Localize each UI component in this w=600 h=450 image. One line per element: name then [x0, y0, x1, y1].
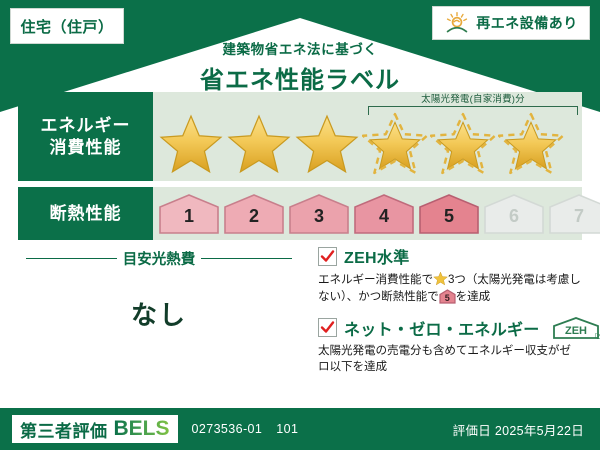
divider-left — [26, 258, 117, 259]
net-zero-energy-checkbox[interactable] — [318, 318, 337, 337]
title-block: 建築物省エネ法に基づく 省エネ性能ラベル — [0, 38, 600, 95]
estimated-utility-cost-section: 目安光熱費 なし — [18, 248, 300, 373]
sun-icon — [444, 11, 470, 35]
zeh-standard-row: ZEH水準 エネルギー消費性能で3つ（太陽光発電は考慮しない）、かつ断熱性能で5… — [318, 244, 582, 306]
zeh-standard-title: ZEH水準 — [344, 244, 410, 268]
energy-category-label: エネルギー 消費性能 — [18, 92, 153, 181]
insulation-level-value: 3 — [288, 206, 350, 227]
bels-wordmark: BELS — [114, 417, 170, 441]
insulation-level-value: 4 — [353, 206, 415, 227]
estimated-utility-cost-label: 目安光熱費 — [123, 248, 196, 269]
zeh-standard-description: エネルギー消費性能で3つ（太陽光発電は考慮しない）、かつ断熱性能で5を達成 — [318, 271, 582, 306]
insulation-level-7: 7 — [548, 193, 600, 235]
star-icon-filled — [158, 111, 224, 177]
building-type-label: 住宅（住戸） — [20, 16, 113, 37]
zeh-desc-part-c: を達成 — [456, 290, 490, 303]
bels-logo: 第三者評価 BELS — [12, 415, 178, 443]
insulation-level-3: 3 — [288, 193, 350, 235]
net-zero-energy-description: 太陽光発電の売電分も含めてエネルギー収支がゼロ以下を達成 — [318, 343, 582, 377]
insulation-level-value: 2 — [223, 206, 285, 227]
zeh-desc-part-a: エネルギー消費性能で — [318, 273, 433, 286]
insulation-level-2: 2 — [223, 193, 285, 235]
insulation-level-4: 4 — [353, 193, 415, 235]
estimated-utility-cost-value: なし — [18, 295, 300, 332]
star-icon-filled — [294, 111, 360, 177]
star-icon-filled — [226, 111, 292, 177]
label-content: エネルギー 消費性能 太陽光発電(自家消費)分 — [18, 92, 582, 432]
insulation-level-6: 6 — [483, 193, 545, 235]
check-icon — [320, 249, 335, 264]
insulation-level-value: 5 — [418, 206, 480, 227]
star-icon-solar — [362, 111, 428, 177]
certificate-number: 0273536-01 — [192, 422, 263, 436]
zeh-criteria-section: ZEH水準 エネルギー消費性能で3つ（太陽光発電は考慮しない）、かつ断熱性能で5… — [318, 244, 582, 386]
insulation-level-5: 5 — [418, 193, 480, 235]
energy-label-line1: エネルギー — [41, 115, 131, 136]
star-icon-solar — [498, 111, 564, 177]
footer-bar: 第三者評価 BELS 0273536-01 101 評価日 2025年5月22日 — [0, 408, 600, 450]
star-rating — [158, 110, 578, 178]
insulation-level-scale: 1 2 3 4 5 — [158, 191, 600, 236]
certificate-number-2: 101 — [276, 422, 298, 436]
net-zero-energy-header: ネット・ゼロ・エネルギー ZEH 「ZEH」 — [318, 316, 582, 340]
zeh-standard-checkbox[interactable] — [318, 247, 337, 266]
net-zero-energy-title: ネット・ゼロ・エネルギー — [344, 316, 540, 340]
energy-label-line2: 消費性能 — [50, 137, 122, 158]
third-party-label: 第三者評価 — [20, 417, 108, 442]
insulation-level-value: 6 — [483, 206, 545, 227]
star-icon-inline — [433, 271, 448, 286]
divider-right — [201, 258, 292, 259]
page-title: 省エネ性能ラベル — [0, 60, 600, 95]
energy-performance-section: エネルギー 消費性能 太陽光発電(自家消費)分 — [18, 92, 582, 181]
insulation-badge-inline: 5 — [439, 289, 456, 304]
insulation-category-label: 断熱性能 — [18, 187, 153, 240]
insulation-level-value: 1 — [158, 206, 220, 227]
star-icon-solar — [430, 111, 496, 177]
renewable-label: 再エネ設備あり — [476, 13, 578, 33]
renewable-equipment-badge: 再エネ設備あり — [432, 6, 590, 40]
zeh-logo-sublabel: 「ZEH」 — [591, 332, 600, 341]
check-icon — [320, 320, 335, 335]
evaluation-date: 評価日 2025年5月22日 — [453, 420, 584, 439]
building-type-badge: 住宅（住戸） — [10, 8, 124, 44]
estimated-utility-cost-heading: 目安光熱費 — [18, 248, 300, 269]
insulation-level-value: 7 — [548, 206, 600, 227]
insulation-badge-value: 5 — [439, 292, 456, 305]
solar-annotation-bracket — [368, 106, 578, 115]
zeh-standard-header: ZEH水準 — [318, 244, 582, 268]
net-zero-energy-row: ネット・ゼロ・エネルギー ZEH 「ZEH」 太陽光発電の売電分も含めてエネルギ… — [318, 316, 582, 377]
svg-text:ZEH: ZEH — [565, 325, 587, 337]
energy-performance-label: 住宅（住戸） 再エネ設備あり 建築物省エネ法に基づく 省エネ性能ラベル エネルギ… — [0, 0, 600, 450]
insulation-level-1: 1 — [158, 193, 220, 235]
insulation-label: 断熱性能 — [50, 203, 122, 224]
insulation-performance-section: 断熱性能 1 2 3 4 — [18, 187, 582, 240]
zeh-house-logo: ZEH 「ZEH」 — [550, 316, 600, 340]
